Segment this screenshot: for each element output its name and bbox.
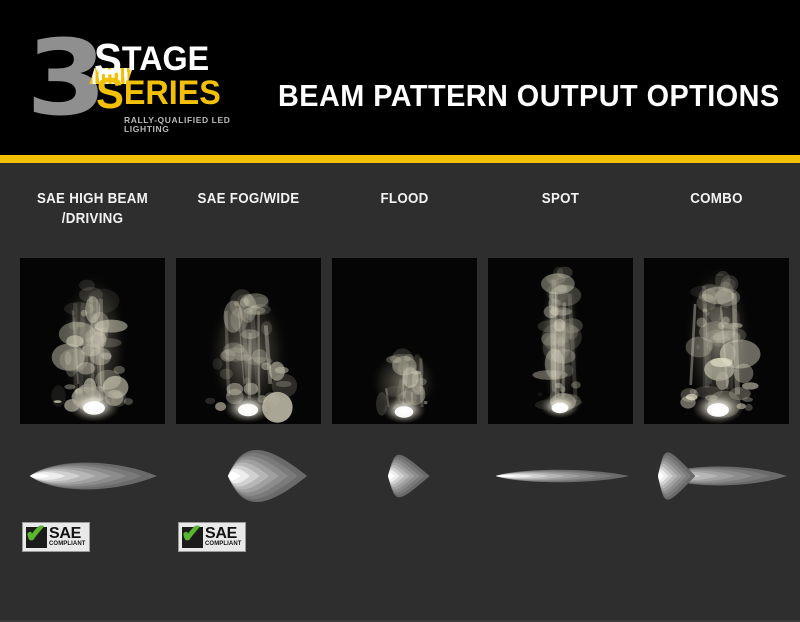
- beam-column-sae-high-beam[interactable]: SAE HIGH BEAM/DRIVING✔SAECOMPLIANT: [20, 163, 165, 622]
- beam-photo[interactable]: [644, 258, 789, 424]
- beam-pattern-diagram: [332, 441, 477, 511]
- logo-word-series: SERIES: [96, 76, 221, 111]
- column-label-line1: SAE FOG/WIDE: [182, 189, 315, 209]
- logo-wordmark: STAGE SERIES RALLY-QUALIFIED LED LIGHTIN…: [94, 42, 274, 134]
- beam-pattern-diagram: [644, 441, 789, 511]
- beam-photo[interactable]: [332, 258, 477, 424]
- badge-text: SAECOMPLIANT: [49, 526, 86, 548]
- logo-word-stage-rest: TAGE: [122, 40, 209, 78]
- column-label: FLOOD: [338, 189, 471, 209]
- page-header: 3 STAGE SERIES RALLY-QUALIFIED LED LIGHT…: [0, 0, 800, 155]
- badge-subtitle: COMPLIANT: [49, 541, 86, 548]
- beam-pattern-diagram: [176, 441, 321, 511]
- beam-column-spot[interactable]: SPOT: [488, 163, 633, 622]
- badge-title: SAE: [205, 526, 242, 541]
- column-label: COMBO: [650, 189, 783, 209]
- column-label: SAE HIGH BEAM/DRIVING: [26, 189, 159, 229]
- column-label-line1: COMBO: [650, 189, 783, 209]
- beam-pattern-diagram: [20, 441, 165, 511]
- beam-column-combo[interactable]: COMBO: [644, 163, 789, 622]
- beam-pattern-diagram: [488, 441, 633, 511]
- checkbox-icon: ✔: [26, 527, 47, 548]
- check-icon: ✔: [25, 522, 46, 547]
- logo-word-series-rest: ERIES: [124, 74, 221, 112]
- beam-column-flood[interactable]: FLOOD: [332, 163, 477, 622]
- badge-subtitle: COMPLIANT: [205, 541, 242, 548]
- brand-logo: 3 STAGE SERIES RALLY-QUALIFIED LED LIGHT…: [26, 26, 266, 134]
- page-title: BEAM PATTERN OUTPUT OPTIONS: [278, 80, 780, 111]
- column-label: SPOT: [494, 189, 627, 209]
- beam-column-sae-fog-wide[interactable]: SAE FOG/WIDE✔SAECOMPLIANT: [176, 163, 321, 622]
- column-label-line1: SAE HIGH BEAM: [26, 189, 159, 209]
- beam-photo[interactable]: [20, 258, 165, 424]
- sae-compliant-badge: ✔SAECOMPLIANT: [178, 522, 246, 552]
- column-label: SAE FOG/WIDE: [182, 189, 315, 209]
- beam-pattern-grid: SAE HIGH BEAM/DRIVING✔SAECOMPLIANTSAE FO…: [0, 163, 800, 622]
- logo-tagline: RALLY-QUALIFIED LED LIGHTING: [124, 116, 274, 134]
- beam-photo[interactable]: [176, 258, 321, 424]
- badge-title: SAE: [49, 526, 86, 541]
- column-label-line2: /DRIVING: [26, 209, 159, 229]
- column-label-line1: SPOT: [494, 189, 627, 209]
- sae-compliant-badge: ✔SAECOMPLIANT: [22, 522, 90, 552]
- checkbox-icon: ✔: [182, 527, 203, 548]
- beam-photo[interactable]: [488, 258, 633, 424]
- badge-text: SAECOMPLIANT: [205, 526, 242, 548]
- check-icon: ✔: [181, 522, 202, 547]
- column-label-line1: FLOOD: [338, 189, 471, 209]
- accent-divider: [0, 155, 800, 163]
